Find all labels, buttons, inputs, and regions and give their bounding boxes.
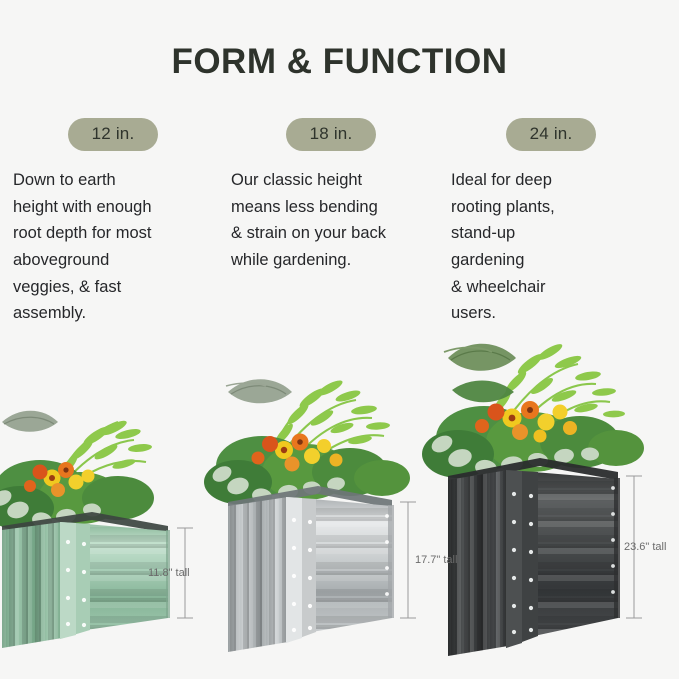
product-infographic: FORM & FUNCTION 12 in. Down to earth hei… — [0, 0, 679, 679]
planters-illustration — [0, 330, 679, 679]
pill-wrap-24in: 24 in. — [451, 118, 651, 151]
plants-green — [0, 411, 154, 530]
feature-columns: 12 in. Down to earth height with enough … — [0, 118, 679, 328]
height-badge-24in: 24 in. — [506, 118, 597, 151]
dimension-callout-silver — [400, 502, 416, 618]
dimension-label-silver: 17.7" tall — [415, 554, 457, 566]
product-photo-scene: 11.8" tall 17.7" tall 23.6" tall — [0, 330, 679, 679]
height-badge-18in: 18 in. — [286, 118, 377, 151]
feature-column-18in: 18 in. Our classic height means less ben… — [231, 118, 441, 274]
plants-silver — [204, 378, 410, 505]
feature-column-12in: 12 in. Down to earth height with enough … — [13, 118, 223, 327]
height-badge-12in: 12 in. — [68, 118, 159, 151]
feature-description-24in: Ideal for deep rooting plants, stand-up … — [451, 167, 651, 327]
dimension-label-green: 11.8" tall — [148, 567, 190, 579]
dimension-label-charcoal: 23.6" tall — [624, 541, 666, 553]
feature-column-24in: 24 in. Ideal for deep rooting plants, st… — [451, 118, 661, 327]
page-title: FORM & FUNCTION — [0, 42, 679, 82]
planter-charcoal — [422, 341, 644, 656]
planter-green — [0, 411, 170, 648]
pill-wrap-18in: 18 in. — [231, 118, 431, 151]
feature-description-12in: Down to earth height with enough root de… — [13, 167, 213, 327]
pill-wrap-12in: 12 in. — [13, 118, 213, 151]
feature-description-18in: Our classic height means less bending & … — [231, 167, 431, 274]
planter-silver — [204, 378, 410, 652]
plants-charcoal — [422, 341, 644, 478]
